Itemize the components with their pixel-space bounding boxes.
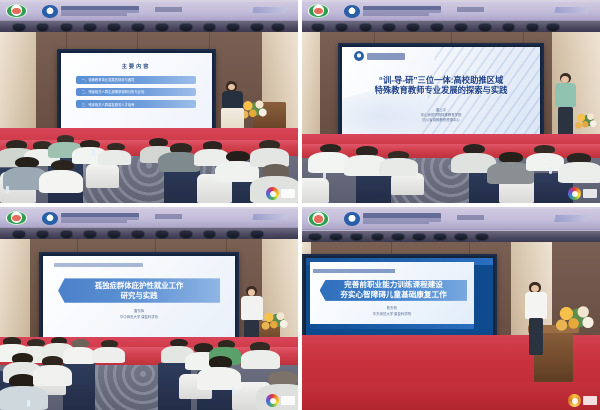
watermark-text: [583, 189, 597, 198]
stage-banner: [302, 209, 600, 230]
slide-bullet-3: 三、残疾相关人群康复服务人才培养: [76, 100, 197, 108]
slide-blue-framed: 完善前职业能力训练课程建设 夯实心智障碍儿童基础康复工作 陈东帆 华东师范大学 …: [306, 258, 493, 335]
panel-bottom-right[interactable]: 完善前职业能力训练课程建设 夯实心智障碍儿童基础康复工作 陈东帆 华东师范大学 …: [302, 207, 600, 410]
slide-bullet-1: 一、特殊教育事业发展的现状与困境: [76, 76, 197, 84]
banner-center-text: [155, 214, 182, 218]
banner-university-name-en: [61, 220, 127, 222]
audience: [0, 126, 298, 203]
stage-banner: [302, 2, 600, 21]
presentation-screen[interactable]: 完善前职业能力训练课程建设 夯实心智障碍儿童基础康复工作 陈东帆 华东师范大学 …: [302, 254, 497, 339]
audience: [302, 134, 600, 203]
green-circle-logo-icon: [6, 211, 27, 225]
university-logo-icon: [344, 5, 360, 18]
slide-main-title: 孤独症群体庇护性就业工作 研究与实践: [58, 278, 220, 302]
slide-main-title: 完善前职业能力训练课程建设 夯实心智障碍儿童基础康复工作: [320, 280, 468, 301]
banner-university-name: [363, 213, 440, 221]
university-name-bar: [367, 53, 406, 60]
university-logo-icon: [42, 5, 58, 18]
slide-main-title: “训-导-研”三位一体:高校助推区域 特殊教育教师专业发展的探索与实践: [350, 75, 533, 96]
rainbow-ring-icon: [266, 394, 279, 407]
slide-title-line-2: 研究与实践: [95, 291, 184, 301]
banner-decoration: [555, 215, 589, 222]
green-circle-logo-icon: [308, 4, 329, 18]
slide-university-mark: [354, 52, 406, 61]
slide-bullet-2: 二、残疾相关人群生源需求调研分析与比较: [76, 88, 197, 96]
slide-presenter-block: 唐东辉 华中师范大学 康复科学系: [43, 309, 236, 320]
panel-top-right[interactable]: “训-导-研”三位一体:高校助推区域 特殊教育教师专业发展的探索与实践 唐上平 …: [302, 0, 600, 203]
slide-inner: 完善前职业能力训练课程建设 夯实心智障碍儿童基础康复工作 陈东帆 华东师范大学 …: [310, 262, 474, 330]
slide-title-line-1: 孤独症群体庇护性就业工作: [95, 281, 184, 291]
slide-presenter-block: 陈东帆 华东师范大学 康复科学院: [310, 306, 474, 317]
photo-collage-grid: 主要内容 一、特殊教育事业发展的现状与困境 二、残疾相关人群生源需求调研分析与比…: [0, 0, 600, 410]
lighting-truss: [302, 231, 600, 241]
stage-front-edge: [302, 382, 600, 410]
banner-decoration: [253, 214, 287, 220]
banner-university-name-en: [61, 13, 127, 15]
speaker: [523, 282, 550, 355]
watermark: [266, 187, 295, 200]
watermark: [568, 187, 597, 200]
university-logo-icon: [42, 212, 58, 225]
banner-university-name: [61, 6, 138, 13]
watermark-text: [281, 396, 295, 405]
slide-footer-band: [310, 324, 474, 329]
slide-affiliation: 华东师范大学 康复科学院: [310, 312, 474, 317]
slide-arrow-banner: 孤独症群体庇护性就业工作 研究与实践 唐东辉 华中师范大学 康复科学系: [43, 256, 236, 337]
slide-title-line-1: 完善前职业能力训练课程建设: [340, 280, 446, 290]
slide-title-line-2: 特殊教育教师专业发展的探索与实践: [350, 85, 533, 96]
slide-agenda: 主要内容 一、特殊教育事业发展的现状与困境 二、残疾相关人群生源需求调研分析与比…: [61, 53, 212, 128]
slide-presenter-block: 唐上平 乐山师范学院特殊教育学院 四川省特殊教育资源中心: [342, 108, 541, 123]
presentation-screen[interactable]: 主要内容 一、特殊教育事业发展的现状与困境 二、残疾相关人群生源需求调研分析与比…: [57, 49, 216, 132]
slide-title-line-1: “训-导-研”三位一体:高校助推区域: [350, 75, 533, 86]
university-logo-icon: [354, 51, 364, 61]
banner-decoration: [555, 7, 589, 13]
banner-center-text: [155, 7, 182, 11]
speaker: [552, 73, 579, 138]
rainbow-ring-icon: [568, 187, 581, 200]
banner-center-text: [457, 7, 484, 11]
panel-top-left[interactable]: 主要内容 一、特殊教育事业发展的现状与困境 二、残疾相关人群生源需求调研分析与比…: [0, 0, 298, 203]
audience: [0, 329, 298, 410]
watermark: [266, 394, 295, 407]
banner-university-name-en: [363, 222, 429, 225]
slide-affiliation-2: 四川省特殊教育资源中心: [342, 118, 541, 123]
slide-header-bar: [54, 263, 143, 267]
slide-title-line-2: 夯实心智障碍儿童基础康复工作: [340, 290, 446, 300]
banner-center-text: [457, 215, 484, 220]
banner-university-name: [363, 6, 440, 13]
watermark-text: [281, 189, 295, 198]
slide-affiliation: 华中师范大学 康复科学系: [43, 315, 236, 320]
lighting-truss: [0, 228, 298, 239]
presentation-screen[interactable]: 孤独症群体庇护性就业工作 研究与实践 唐东辉 华中师范大学 康复科学系: [39, 252, 240, 341]
stage-banner: [0, 209, 298, 228]
panel-bottom-left[interactable]: 孤独症群体庇护性就业工作 研究与实践 唐东辉 华中师范大学 康复科学系: [0, 207, 298, 410]
watermark: [568, 394, 597, 407]
floral-arrangement: [552, 302, 600, 334]
stage-banner: [0, 2, 298, 21]
slide-header-bar: [313, 269, 395, 273]
rainbow-ring-icon: [266, 187, 279, 200]
slide-title: 主要内容: [61, 62, 212, 70]
rainbow-ring-icon: [568, 394, 581, 407]
lighting-truss: [302, 21, 600, 32]
presentation-screen[interactable]: “训-导-研”三位一体:高校助推区域 特殊教育教师专业发展的探索与实践 唐上平 …: [338, 43, 545, 138]
lighting-truss: [0, 21, 298, 32]
university-logo-icon: [344, 212, 360, 226]
banner-university-name-en: [363, 13, 429, 15]
slide-title: “训-导-研”三位一体:高校助推区域 特殊教育教师专业发展的探索与实践 唐上平 …: [342, 47, 541, 134]
watermark-text: [583, 396, 597, 405]
banner-decoration: [253, 7, 287, 13]
banner-university-name: [61, 213, 138, 220]
green-circle-logo-icon: [308, 211, 329, 226]
green-circle-logo-icon: [6, 4, 27, 18]
